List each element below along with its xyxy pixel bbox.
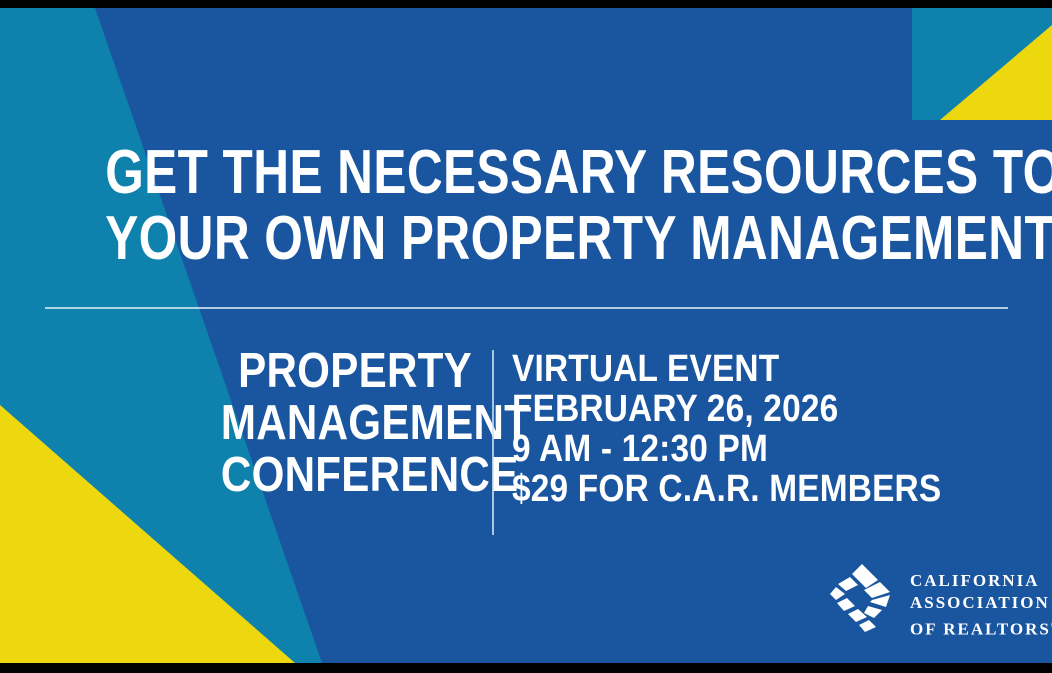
event-title-line-2: MANAGEMENT (221, 397, 472, 449)
event-title-line-3: CONFERENCE (221, 449, 472, 501)
event-details-block: VIRTUAL EVENT FEBRUARY 26, 2026 9 AM - 1… (512, 349, 992, 509)
car-diamond-logo-icon (826, 558, 898, 642)
event-time: 9 AM - 12:30 PM (512, 429, 934, 469)
event-info-columns: PROPERTY MANAGEMENT CONFERENCE VIRTUAL E… (0, 345, 1052, 545)
vertical-divider (492, 350, 494, 535)
logo-line-of-realtors: OF REALTORS® (910, 614, 1052, 641)
car-logo-text: CALIFORNIA ASSOCIATION OF REALTORS® (910, 570, 1052, 641)
logo-line-california: CALIFORNIA (910, 570, 1052, 592)
headline-line-2: YOUR OWN PROPERTY MANAGEMENT BUSINESS (105, 206, 947, 272)
event-date: FEBRUARY 26, 2026 (512, 389, 934, 429)
event-format: VIRTUAL EVENT (512, 349, 934, 389)
promo-banner: GET THE NECESSARY RESOURCES TO SUPPORT Y… (0, 0, 1052, 673)
event-price: $29 FOR C.A.R. MEMBERS (512, 469, 934, 509)
logo-line-association: ASSOCIATION (910, 592, 1052, 614)
logo-realtors-word: OF REALTORS (910, 620, 1051, 639)
event-title-line-1: PROPERTY (221, 345, 472, 397)
car-logo: CALIFORNIA ASSOCIATION OF REALTORS® (826, 556, 1026, 644)
headline-line-1: GET THE NECESSARY RESOURCES TO SUPPORT (105, 140, 947, 206)
horizontal-divider (45, 307, 1008, 309)
banner-content: GET THE NECESSARY RESOURCES TO SUPPORT Y… (0, 0, 1052, 673)
headline: GET THE NECESSARY RESOURCES TO SUPPORT Y… (0, 140, 1052, 272)
event-title-block: PROPERTY MANAGEMENT CONFERENCE (180, 345, 472, 501)
